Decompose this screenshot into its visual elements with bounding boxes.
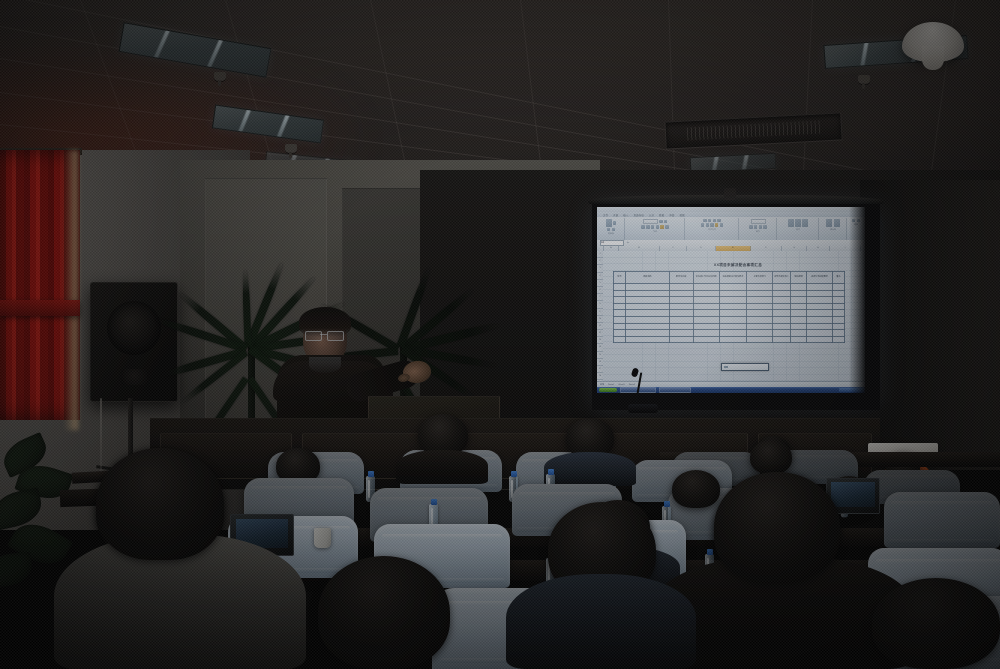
speaker-cone [107, 301, 161, 355]
align-middle-icon[interactable] [708, 219, 711, 222]
table-header-cell: 主要负责部门 [747, 272, 773, 284]
comma-icon[interactable] [759, 225, 762, 228]
ribbon-group-alignment[interactable]: 对齐方式 [686, 218, 739, 240]
microphone-base [628, 404, 658, 413]
percent-icon[interactable] [754, 225, 757, 228]
decimal-icon[interactable] [763, 225, 766, 228]
wall-right [860, 180, 1000, 470]
table-header-cell: 是否计划进度要求 [807, 272, 833, 284]
ribbon-group-clipboard[interactable]: 剪贴板 [598, 218, 625, 240]
font-name-box[interactable] [643, 219, 658, 224]
projection-screen: 文件 开始 插入 页面布局 公式 数据 审阅 视图 [592, 204, 880, 410]
ribbon-tab[interactable]: 审阅 [669, 213, 674, 217]
table-header-cell: 配合协调负责人 [773, 272, 791, 284]
ribbon-group-cells[interactable]: 单元格 [820, 218, 847, 240]
table-row[interactable] [614, 310, 845, 317]
plant-leaf [0, 552, 34, 589]
screen-edge-shadow [849, 207, 865, 393]
table-header-cell: 配合未完成 [669, 272, 693, 284]
table-header-cell: 解决期限 [791, 272, 807, 284]
ribbon-group-label: 样式 [796, 228, 800, 231]
fx-icon: fx [627, 242, 629, 244]
screen-frame: 文件 开始 插入 页面布局 公式 数据 审阅 视图 [592, 204, 880, 410]
table-row[interactable] [614, 336, 845, 343]
ribbon-group-font[interactable]: 字体 [626, 218, 685, 240]
table-body[interactable] [614, 284, 845, 343]
currency-icon[interactable] [749, 225, 752, 228]
ribbon-tab[interactable]: 数据 [659, 213, 664, 217]
paste-icon[interactable] [606, 219, 612, 227]
table-row[interactable] [614, 330, 845, 337]
ribbon-group-label: 数字 [756, 230, 760, 233]
ribbon-tab[interactable]: 页面布局 [634, 213, 644, 217]
laptop-display [831, 482, 875, 506]
ribbon-tab[interactable]: 开始 [613, 213, 618, 217]
ribbon-group-label: 单元格 [830, 228, 836, 231]
seat-with-white-cover [884, 492, 1000, 548]
sheet-tab[interactable]: Sheet3 [629, 384, 635, 386]
ribbon-group-label: 字体 [653, 230, 657, 233]
presenter-collar [309, 357, 341, 373]
table-row[interactable] [614, 303, 845, 310]
attendee-head [714, 472, 840, 582]
ribbon-tab[interactable]: 视图 [680, 213, 685, 217]
italic-icon[interactable] [646, 225, 649, 228]
eyeglasses [305, 331, 345, 339]
excel-window: 文件 开始 插入 页面布局 公式 数据 审阅 视图 [597, 207, 865, 393]
attendee-body [544, 452, 636, 486]
align-center-icon[interactable] [706, 223, 709, 226]
attendee-head [750, 440, 792, 474]
format-painter-icon[interactable] [612, 228, 615, 231]
ribbon-group-number[interactable]: 数字 [740, 218, 777, 240]
ribbon-tab[interactable]: 文件 [603, 213, 608, 217]
start-button[interactable] [599, 388, 617, 392]
align-top-icon[interactable] [703, 219, 706, 222]
table-row[interactable] [614, 290, 845, 297]
table-header-cell: 项目名称 [625, 272, 669, 284]
table-header-cell: 未完成工作存在的问题 [693, 272, 719, 284]
excel-ribbon[interactable]: 剪贴板 字体 对齐方式 [597, 217, 865, 241]
sprinkler-head [285, 144, 297, 153]
align-right-icon[interactable] [710, 223, 713, 226]
eyeglass-lens-left [305, 331, 322, 341]
ribbon-group-styles[interactable]: 样式 [778, 218, 819, 240]
font-size-box[interactable] [659, 220, 662, 223]
ribbon-group-label: 对齐方式 [708, 228, 716, 231]
attendee-body [396, 450, 488, 484]
status-text: 就绪 [600, 383, 604, 386]
data-table[interactable]: 序号 项目名称 配合未完成 未完成工作存在的问题 拟采取解决方案及要求 主要负责… [613, 271, 845, 343]
attendee-head [96, 448, 224, 560]
hvac-grill [687, 120, 820, 140]
ribbon-group-label: 剪贴板 [608, 232, 614, 235]
selected-cell[interactable] [721, 363, 769, 371]
number-format-select[interactable] [751, 219, 766, 224]
ribbon-tab[interactable]: 公式 [649, 213, 654, 217]
ribbon-tab[interactable]: 插入 [623, 213, 628, 217]
eyeglass-bridge [320, 334, 327, 335]
merge-cells-icon[interactable] [715, 223, 718, 226]
palm-frond [242, 270, 252, 346]
wrap-text-icon[interactable] [720, 223, 723, 226]
pa-loudspeaker [90, 282, 178, 402]
screen-surface: 文件 开始 插入 页面布局 公式 数据 审阅 视图 [597, 207, 865, 393]
cut-icon[interactable] [607, 228, 610, 231]
align-left-icon[interactable] [701, 223, 704, 226]
sprinkler-head [214, 72, 226, 81]
attendee-head [672, 470, 720, 508]
align-bottom-icon[interactable] [713, 219, 716, 222]
spreadsheet-grid[interactable]: XX项目未解决配合事项汇总 序号 项目名称 [603, 251, 865, 381]
conditional-format-icon[interactable] [788, 219, 794, 227]
table-header-row: 序号 项目名称 配合未完成 未完成工作存在的问题 拟采取解决方案及要求 主要负责… [614, 272, 845, 284]
hvac-vent [664, 112, 842, 149]
delete-cells-icon[interactable] [834, 219, 840, 227]
speaker-tweeter [121, 369, 147, 385]
attendee-body [506, 574, 696, 669]
bold-icon[interactable] [641, 225, 644, 228]
table-row[interactable] [614, 316, 845, 323]
orientation-icon[interactable] [717, 219, 720, 222]
table-header-cell: 备注 [832, 272, 844, 284]
ceiling-speaker [902, 22, 964, 62]
attendee-head [318, 556, 450, 669]
sheet-tab[interactable]: Sheet1 [608, 384, 614, 386]
curtain-backlight-glow [64, 150, 78, 430]
cell-styles-icon[interactable] [802, 219, 808, 227]
screen-mount-bracket [724, 188, 736, 200]
table-row[interactable] [614, 323, 845, 330]
curtain-tieback [0, 300, 80, 316]
conference-room-photo: 文件 开始 插入 页面布局 公式 数据 审阅 视图 [0, 0, 1000, 669]
sheet-tab[interactable]: Sheet2 [618, 384, 624, 386]
format-table-icon[interactable] [795, 219, 801, 227]
sprinkler-head [858, 75, 870, 84]
table-header-cell: 拟采取解决方案及要求 [719, 272, 747, 284]
grow-font-icon[interactable] [664, 220, 667, 223]
table-row[interactable] [614, 284, 845, 291]
font-color-icon[interactable] [665, 225, 668, 228]
copy-icon[interactable] [613, 221, 616, 224]
table-header-cell: 序号 [614, 272, 626, 284]
paper-cup [314, 528, 331, 548]
table-row[interactable] [614, 297, 845, 304]
eyeglass-lens-right [327, 331, 344, 341]
insert-cells-icon[interactable] [826, 219, 832, 227]
taskbar-item[interactable] [659, 387, 691, 393]
fill-color-icon[interactable] [660, 225, 663, 228]
underline-icon[interactable] [651, 225, 654, 228]
border-icon[interactable] [656, 225, 659, 228]
sheet-title: XX项目未解决配合事项汇总 [663, 263, 813, 268]
attendee-head [872, 578, 1000, 669]
